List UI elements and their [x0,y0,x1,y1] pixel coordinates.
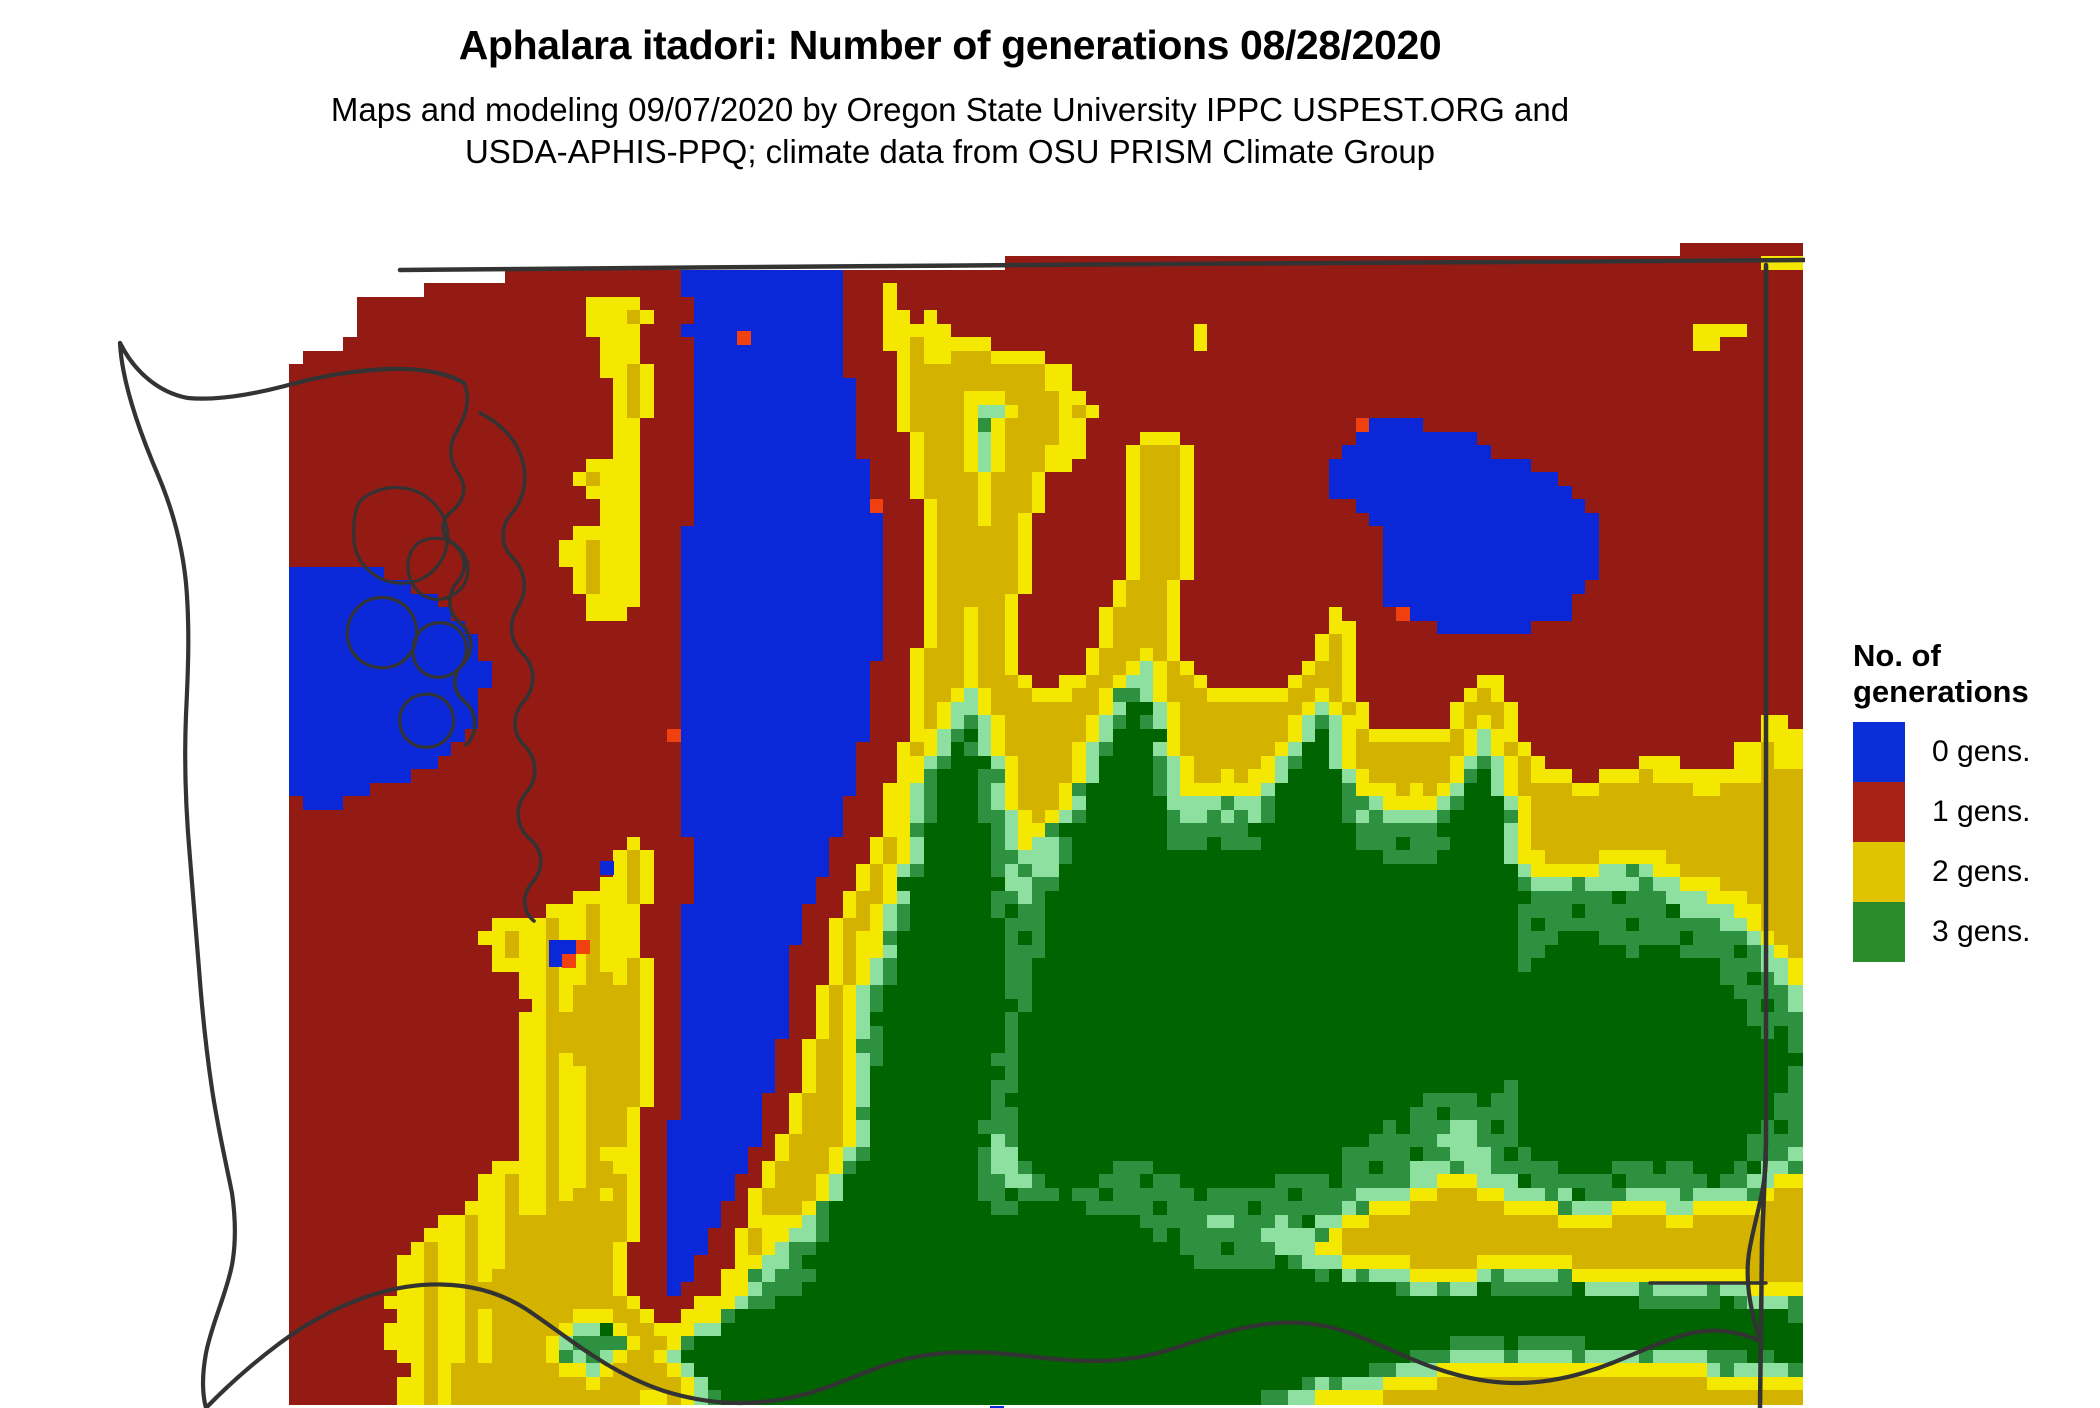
legend-swatch-1-gens [1853,782,1905,842]
legend-items: 0 gens.1 gens.2 gens.3 gens. [1853,722,2083,962]
legend-row[interactable]: 1 gens. [1853,782,2083,842]
legend-row[interactable]: 0 gens. [1853,722,2083,782]
legend-label: 3 gens. [1932,915,2030,949]
legend: No. of generations 0 gens.1 gens.2 gens.… [1853,638,2083,962]
legend-row[interactable]: 3 gens. [1853,902,2083,962]
map-raster-area[interactable] [60,243,1805,1408]
subtitle-line-1: Maps and modeling 09/07/2020 by Oregon S… [0,89,1900,131]
map-page: Aphalara itadori: Number of generations … [0,0,2100,1408]
subtitle-line-2: USDA-APHIS-PPQ; climate data from OSU PR… [0,131,1900,173]
generations-raster-canvas[interactable] [60,243,1805,1408]
legend-swatch-3-gens [1853,902,1905,962]
page-subtitle: Maps and modeling 09/07/2020 by Oregon S… [0,67,1900,173]
page-title: Aphalara itadori: Number of generations … [0,0,1900,67]
legend-title: No. of generations [1853,638,2083,710]
legend-swatch-0-gens [1853,722,1905,782]
legend-label: 0 gens. [1932,735,2030,769]
legend-label: 1 gens. [1932,795,2030,829]
legend-swatch-2-gens [1853,842,1905,902]
title-block: Aphalara itadori: Number of generations … [0,0,1900,174]
legend-label: 2 gens. [1932,855,2030,889]
legend-row[interactable]: 2 gens. [1853,842,2083,902]
